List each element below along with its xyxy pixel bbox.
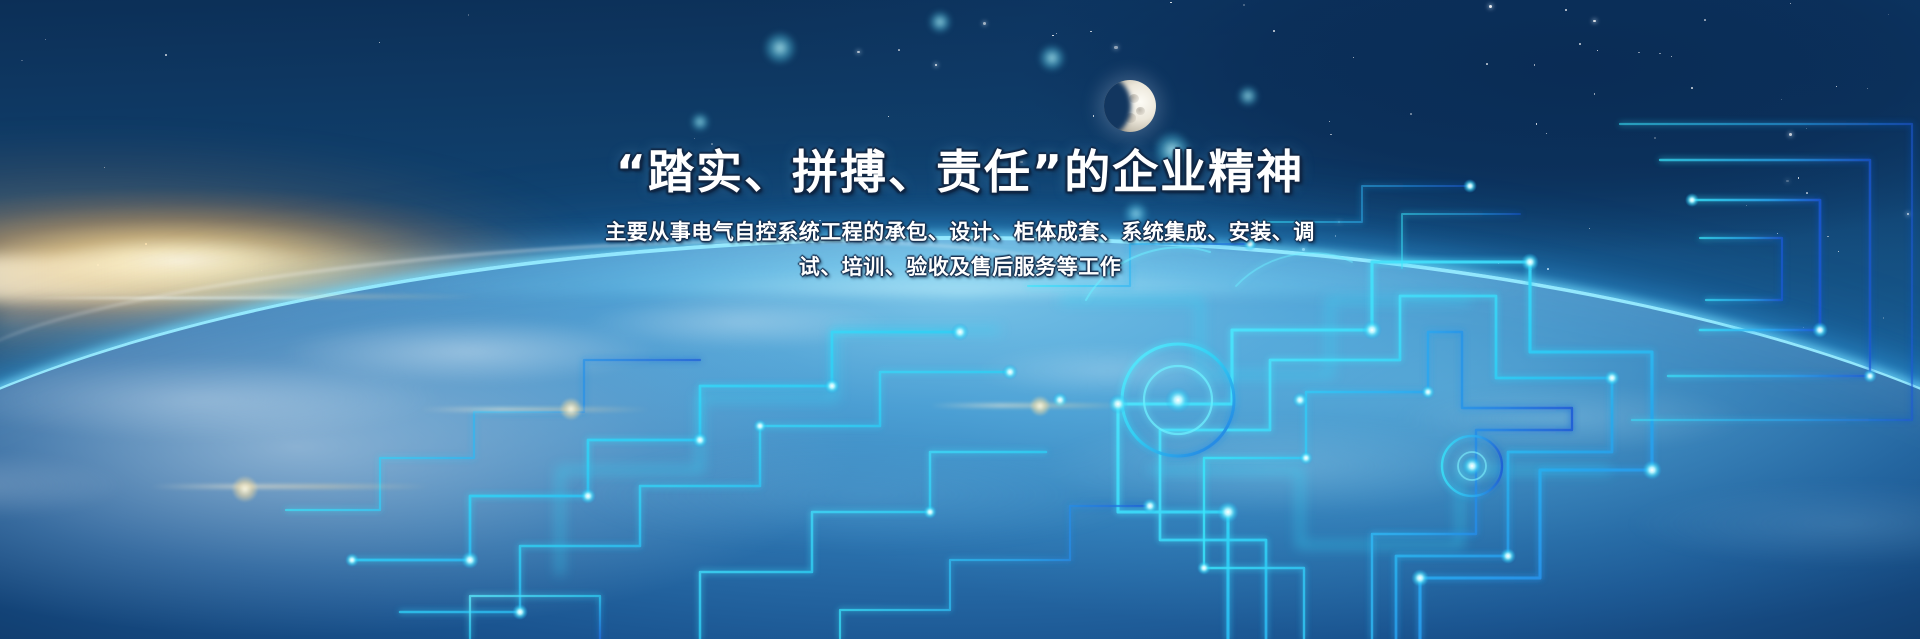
star	[1114, 46, 1117, 49]
banner-subtitle-line-1: 主要从事电气自控系统工程的承包、设计、柜体成套、系统集成、安装、调	[0, 215, 1920, 250]
star	[1781, 99, 1782, 100]
star	[1594, 93, 1596, 95]
bokeh-orb	[929, 11, 951, 33]
star	[1330, 134, 1332, 136]
lens-flare-streak	[420, 408, 650, 411]
banner-subtitle-line-2: 试、培训、验收及售后服务等工作	[0, 250, 1920, 285]
star	[1888, 14, 1889, 15]
star	[21, 60, 23, 62]
star	[857, 51, 860, 54]
page-title: “踏实、拼搏、责任”的企业精神	[0, 146, 1920, 199]
lens-flare-dot	[560, 398, 582, 420]
star	[1565, 9, 1567, 11]
lens-flare-dot	[232, 476, 258, 502]
bokeh-orb	[1039, 45, 1065, 71]
hero-banner: “踏实、拼搏、责任”的企业精神 主要从事电气自控系统工程的承包、设计、柜体成套、…	[0, 0, 1920, 639]
star	[1836, 86, 1837, 87]
star	[1659, 53, 1660, 54]
star	[165, 54, 167, 56]
star	[468, 14, 469, 15]
star	[1579, 43, 1581, 45]
lens-flare-dot	[1030, 396, 1050, 416]
star	[1273, 30, 1275, 32]
moon-crater	[1136, 107, 1144, 115]
star	[45, 39, 46, 40]
star	[1883, 317, 1884, 318]
star	[1789, 133, 1792, 136]
star	[1638, 52, 1639, 53]
star	[1546, 133, 1547, 134]
star	[1806, 128, 1807, 129]
star	[1486, 63, 1488, 65]
star	[1803, 327, 1804, 328]
lens-flare-streak	[150, 485, 430, 488]
star	[1536, 123, 1538, 125]
star	[1093, 115, 1095, 117]
lens-flare-streak	[150, 295, 480, 298]
star	[898, 49, 900, 51]
star	[1704, 19, 1706, 21]
crescent-moon-icon	[1104, 80, 1156, 132]
star	[1671, 56, 1672, 57]
star	[1243, 4, 1245, 6]
star	[1790, 3, 1791, 4]
star	[1052, 35, 1053, 36]
star	[1329, 121, 1330, 122]
star	[1654, 137, 1656, 139]
star	[935, 64, 937, 66]
star	[983, 22, 986, 25]
star	[1353, 57, 1354, 58]
star	[1867, 88, 1868, 89]
star	[1090, 31, 1091, 32]
star	[1056, 33, 1057, 34]
star	[1410, 113, 1411, 114]
bokeh-orb	[1238, 86, 1258, 106]
star	[379, 42, 380, 43]
star	[1534, 64, 1536, 66]
moon-terminator-shadow	[1104, 80, 1131, 132]
star	[1489, 5, 1492, 8]
star	[1170, 2, 1172, 4]
star	[1593, 20, 1596, 23]
star	[1691, 87, 1693, 89]
bokeh-orb	[764, 32, 796, 64]
banner-subtitle: 主要从事电气自控系统工程的承包、设计、柜体成套、系统集成、安装、调 试、培训、验…	[0, 215, 1920, 286]
star	[1597, 50, 1599, 52]
banner-text-block: “踏实、拼搏、责任”的企业精神 主要从事电气自控系统工程的承包、设计、柜体成套、…	[0, 146, 1920, 285]
